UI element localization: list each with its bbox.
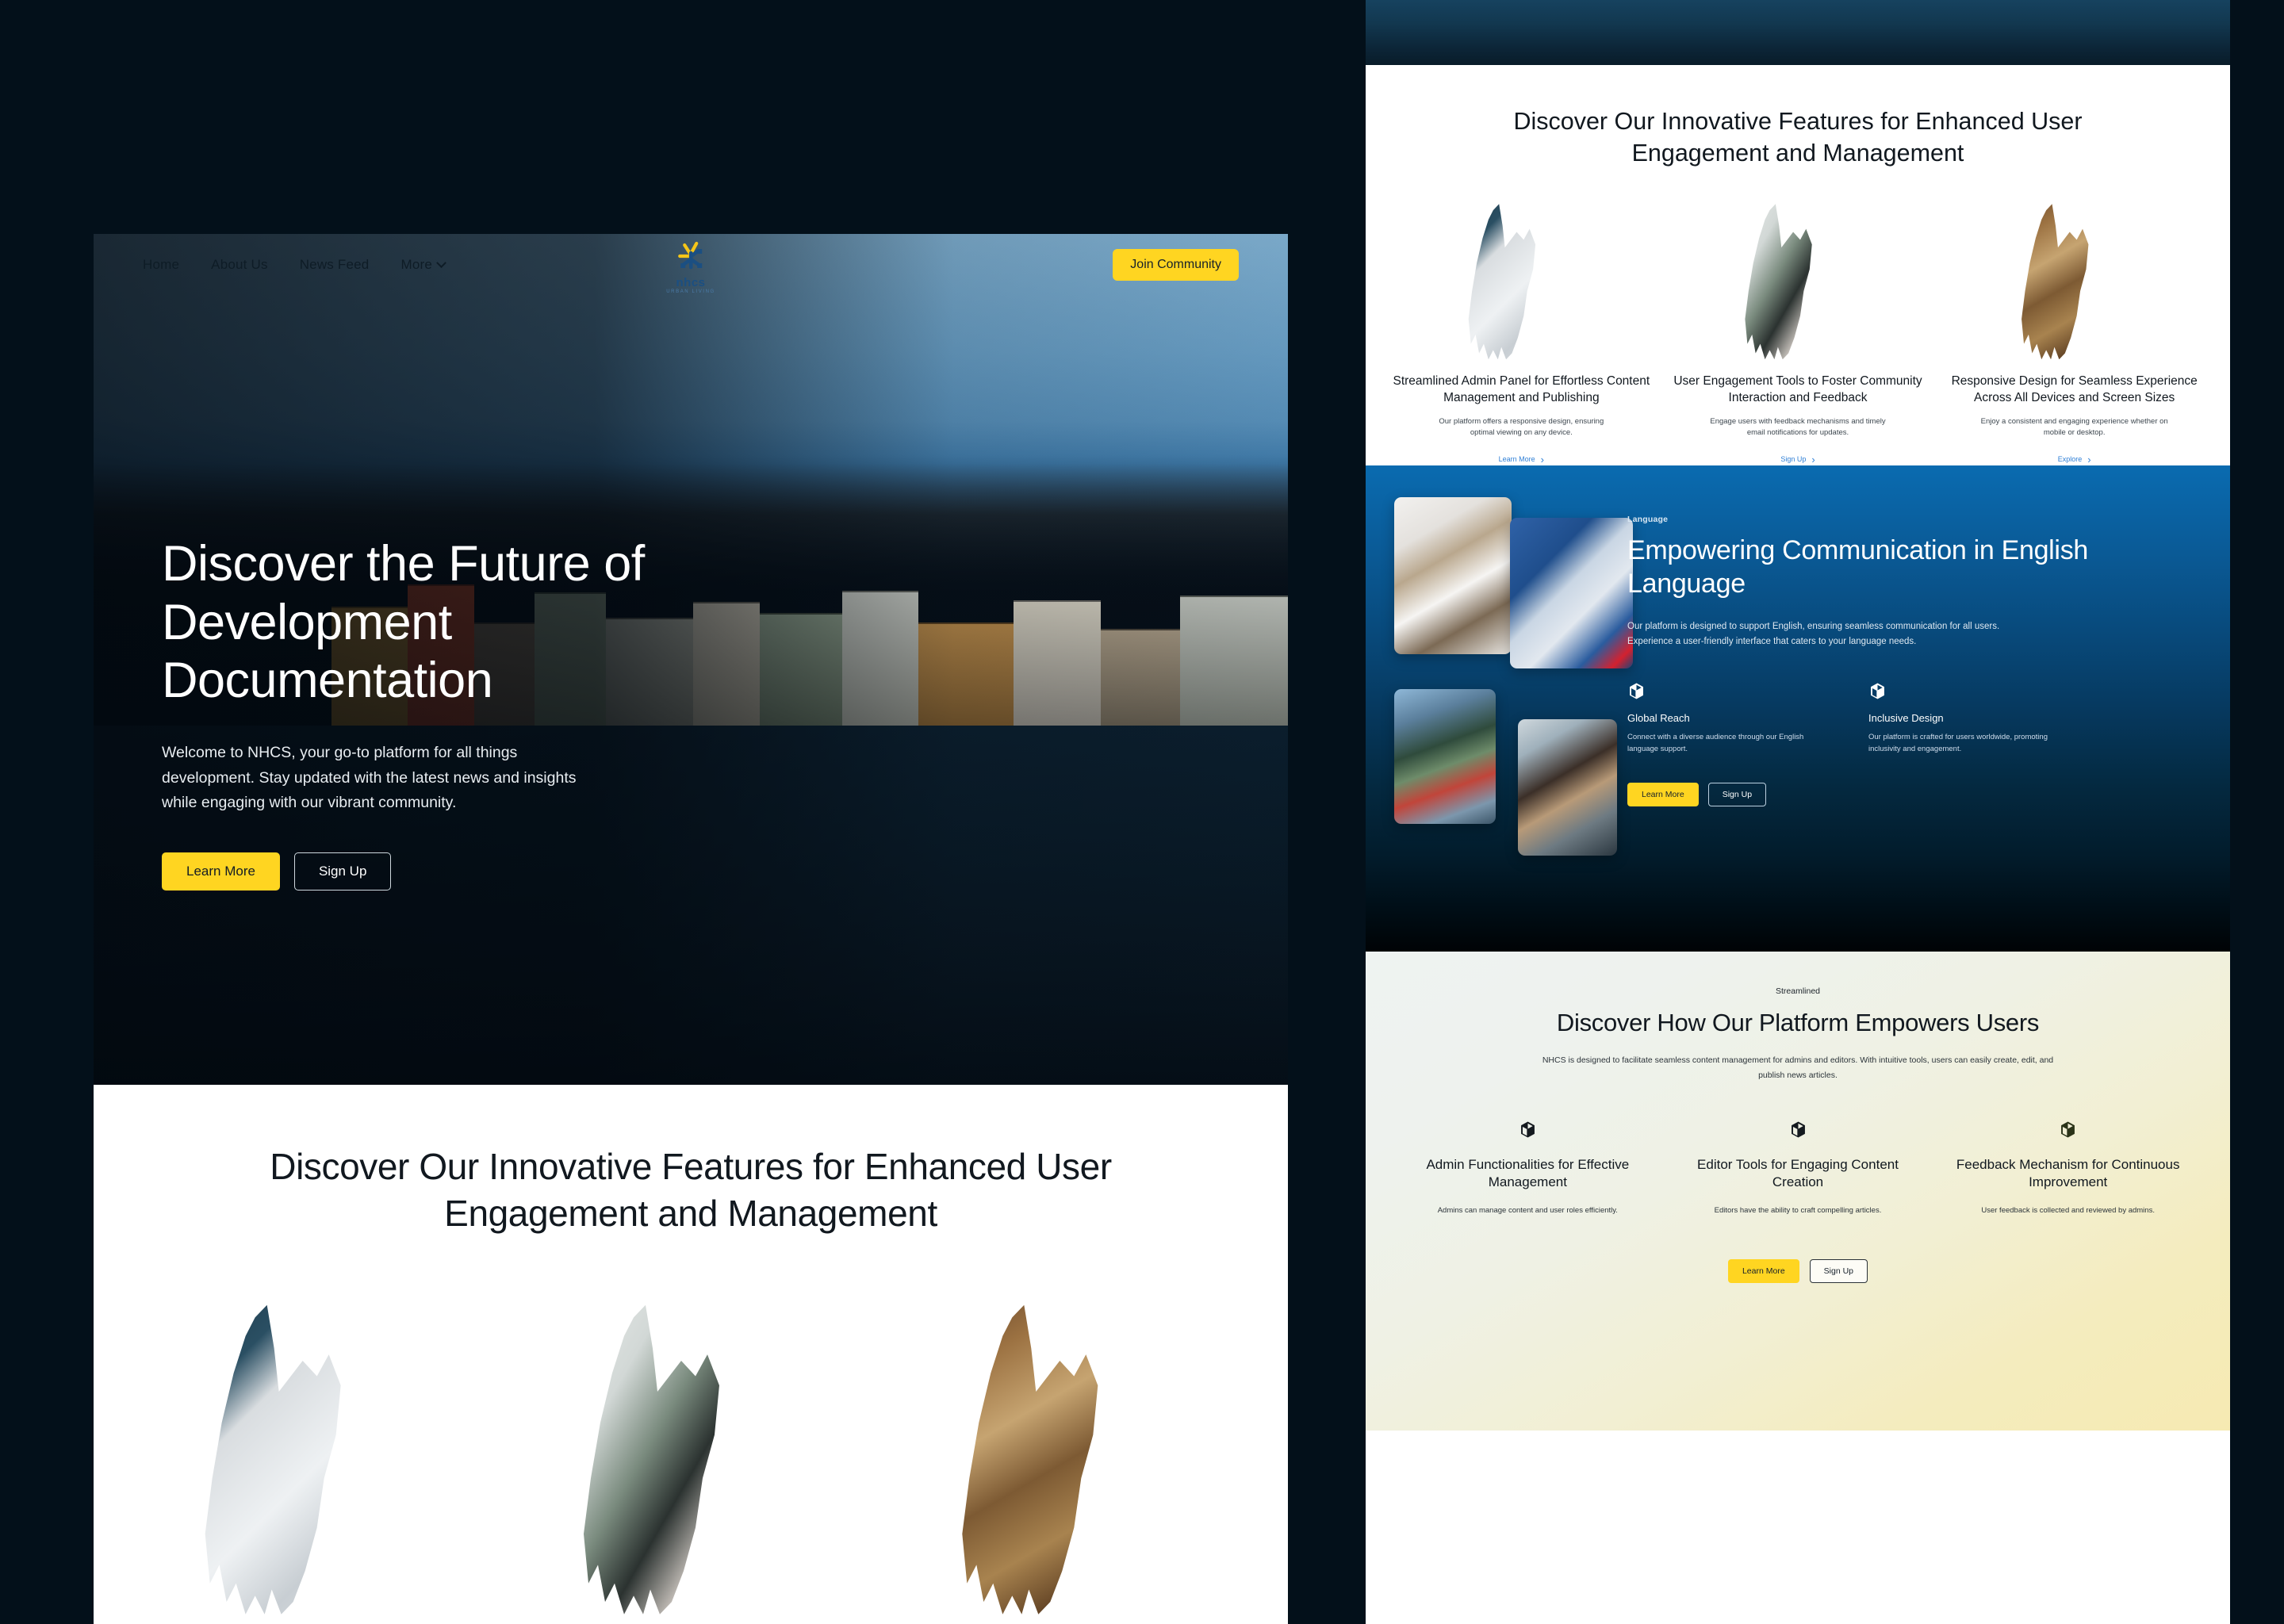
feature-title: Streamlined Admin Panel for Effortless C…: [1393, 373, 1650, 406]
language-title: Empowering Communication in English Lang…: [1627, 534, 2203, 600]
left-features-heading: Discover Our Innovative Features for Enh…: [259, 1143, 1123, 1237]
logo-tagline: URBAN LIVING: [666, 289, 715, 294]
feature-link-learn-more[interactable]: Learn More ›: [1499, 454, 1544, 465]
hero-content: Discover the Future of Development Docum…: [162, 535, 685, 891]
hero-section: Home About Us News Feed More: [94, 234, 1288, 1085]
logo-wordmark: nhcs: [666, 276, 715, 289]
language-image-collage: [1389, 481, 1604, 925]
language-column-description: Connect with a diverse audience through …: [1627, 732, 1810, 755]
language-feature-columns: Global Reach Connect with a diverse audi…: [1627, 682, 2203, 755]
hero-subtitle: Welcome to NHCS, your go-to platform for…: [162, 741, 582, 816]
feature-image-library-bookshelves: [2016, 204, 2133, 359]
feature-card-engagement-tools: User Engagement Tools to Foster Communit…: [1669, 204, 1927, 465]
left-features-grid: [141, 1305, 1240, 1614]
language-buttons: Learn More Sign Up: [1627, 783, 2203, 806]
hero-sign-up-button[interactable]: Sign Up: [294, 852, 391, 891]
empowers-column-description: User feedback is collected and reviewed …: [1969, 1205, 2167, 1216]
feature-description: Engage users with feedback mechanisms an…: [1703, 416, 1893, 439]
right-page-preview: Discover Our Innovative Features for Enh…: [1366, 0, 2230, 1624]
empowers-column-description: Editors have the ability to craft compel…: [1699, 1205, 1897, 1216]
language-column-global-reach: Global Reach Connect with a diverse audi…: [1627, 682, 1810, 755]
feature-link-explore[interactable]: Explore ›: [2058, 454, 2091, 465]
feature-link-label: Learn More: [1499, 455, 1535, 463]
left-page-preview: Home About Us News Feed More: [94, 234, 1288, 1624]
feature-image-hand-holding-phone: [194, 1305, 431, 1614]
feature-card: [519, 1305, 861, 1614]
feature-card: [141, 1305, 483, 1614]
nav-item-more-label: More: [400, 257, 432, 273]
chevron-right-icon: ›: [2087, 454, 2090, 465]
feature-image-hand-holding-phone: [1462, 204, 1580, 359]
empowers-learn-more-button[interactable]: Learn More: [1728, 1259, 1799, 1283]
language-column-description: Our platform is crafted for users worldw…: [1868, 732, 2051, 755]
cube-icon: [1868, 682, 1887, 700]
empowers-column-title: Feedback Mechanism for Continuous Improv…: [1941, 1156, 2195, 1191]
right-features-grid: Streamlined Admin Panel for Effortless C…: [1393, 204, 2203, 465]
feature-card: [899, 1305, 1240, 1614]
language-section: Language Empowering Communication in Eng…: [1366, 465, 2230, 952]
language-learn-more-button[interactable]: Learn More: [1627, 783, 1699, 806]
language-eyebrow: Language: [1627, 515, 2203, 524]
empowers-column-title: Editor Tools for Engaging Content Creati…: [1671, 1156, 1926, 1191]
collage-image-woman-reaching-up-outdoors: [1394, 689, 1496, 824]
language-column-inclusive-design: Inclusive Design Our platform is crafted…: [1868, 682, 2051, 755]
language-sign-up-button[interactable]: Sign Up: [1708, 783, 1766, 806]
empowers-section: Streamlined Discover How Our Platform Em…: [1366, 952, 2230, 1431]
feature-description: Enjoy a consistent and engaging experien…: [1979, 416, 2170, 439]
feature-card-responsive-design: Responsive Design for Seamless Experienc…: [1945, 204, 2203, 465]
feature-link-label: Sign Up: [1780, 455, 1806, 463]
feature-title: User Engagement Tools to Foster Communit…: [1669, 373, 1927, 406]
nav-item-home[interactable]: Home: [143, 257, 179, 273]
right-features-section: Discover Our Innovative Features for Enh…: [1366, 65, 2230, 465]
right-features-heading: Discover Our Innovative Features for Enh…: [1496, 106, 2099, 169]
language-description: Our platform is designed to support Engl…: [1627, 619, 2008, 649]
empowers-column-feedback: Feedback Mechanism for Continuous Improv…: [1941, 1120, 2195, 1216]
feature-description: Our platform offers a responsive design,…: [1426, 416, 1616, 439]
site-logo[interactable]: nhcs URBAN LIVING: [666, 240, 715, 294]
top-navigation-bar: Home About Us News Feed More: [94, 234, 1288, 296]
hero-buttons: Learn More Sign Up: [162, 852, 685, 891]
feature-link-label: Explore: [2058, 455, 2083, 463]
empowers-sign-up-button[interactable]: Sign Up: [1810, 1259, 1868, 1283]
feature-image-phone-social-feed: [1739, 204, 1857, 359]
hero-title: Discover the Future of Development Docum…: [162, 535, 685, 710]
chevron-right-icon: ›: [1811, 454, 1815, 465]
nav-item-news-feed[interactable]: News Feed: [300, 257, 370, 273]
hero-bottom-strip: [1366, 0, 2230, 65]
nav-item-about-us[interactable]: About Us: [211, 257, 268, 273]
feature-card-admin-panel: Streamlined Admin Panel for Effortless C…: [1393, 204, 1650, 465]
empowers-eyebrow: Streamlined: [1401, 986, 2195, 996]
nav-item-more[interactable]: More: [400, 257, 445, 273]
empowers-column-admin: Admin Functionalities for Effective Mana…: [1401, 1120, 1655, 1216]
empowers-column-description: Admins can manage content and user roles…: [1428, 1205, 1627, 1216]
empowers-column-editor: Editor Tools for Engaging Content Creati…: [1671, 1120, 1926, 1216]
feature-title: Responsive Design for Seamless Experienc…: [1945, 373, 2203, 406]
language-column-title: Inclusive Design: [1868, 712, 2051, 724]
join-community-button[interactable]: Join Community: [1113, 249, 1239, 281]
feature-link-sign-up[interactable]: Sign Up ›: [1780, 454, 1815, 465]
collage-image-blue-stars-craft-flatlay: [1510, 518, 1633, 668]
empowers-description: NHCS is designed to facilitate seamless …: [1528, 1053, 2067, 1082]
cube-icon: [1627, 682, 1646, 700]
chevron-right-icon: ›: [1541, 454, 1544, 465]
chevron-down-icon: [436, 258, 446, 268]
hero-learn-more-button[interactable]: Learn More: [162, 852, 280, 891]
language-content: Language Empowering Communication in Eng…: [1627, 515, 2203, 806]
empowers-buttons: Learn More Sign Up: [1401, 1259, 2195, 1283]
collage-image-man-reading-newspaper: [1518, 719, 1617, 856]
empowers-column-title: Admin Functionalities for Effective Mana…: [1401, 1156, 1655, 1191]
screenshot-stage: Home About Us News Feed More: [0, 0, 2284, 1624]
nav-links: Home About Us News Feed More: [143, 257, 445, 273]
cube-icon: [2059, 1120, 2077, 1139]
cube-icon: [1789, 1120, 1807, 1139]
feature-image-library-bookshelves: [950, 1305, 1188, 1614]
language-column-title: Global Reach: [1627, 712, 1810, 724]
cube-icon: [1519, 1120, 1537, 1139]
left-features-section: Discover Our Innovative Features for Enh…: [94, 1085, 1288, 1614]
empowers-grid: Admin Functionalities for Effective Mana…: [1401, 1120, 2195, 1216]
feature-image-phone-social-feed: [572, 1305, 810, 1614]
logo-mark-icon: [673, 240, 709, 275]
empowers-title: Discover How Our Platform Empowers Users: [1401, 1009, 2195, 1037]
collage-image-newspapers-magazines-flatlay: [1394, 497, 1512, 654]
